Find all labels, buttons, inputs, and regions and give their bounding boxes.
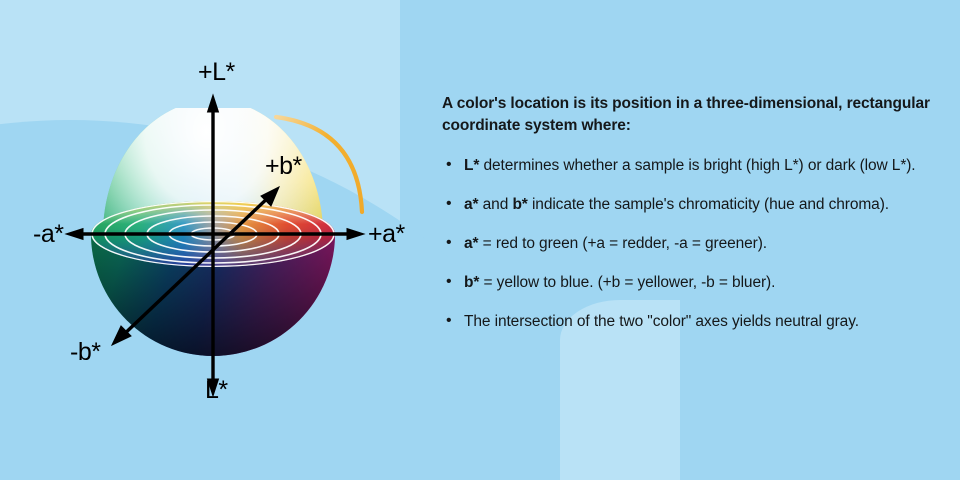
bullet-mid-text: and <box>478 196 512 213</box>
axis-label-a-positive: +a* <box>368 220 405 249</box>
bullet-lead-term: L* <box>464 157 479 174</box>
bullet-body-text: indicate the sample's chromaticity (hue … <box>528 196 889 213</box>
bullet-body-text: = yellow to blue. (+b = yellower, -b = b… <box>479 274 775 291</box>
illustration-root: +L* L* +a* -a* +b* -b* A color's locatio… <box>0 0 960 480</box>
bullet-lead-term: b* <box>464 274 479 291</box>
bullet-glyph: • <box>446 271 452 294</box>
bullet-body-text: The intersection of the two "color" axes… <box>464 313 859 330</box>
lab-color-solid-diagram: +L* L* +a* -a* +b* -b* <box>0 0 440 480</box>
bullet-body-text: determines whether a sample is bright (h… <box>479 157 915 174</box>
list-item: •L* determines whether a sample is brigh… <box>442 155 942 177</box>
a-axis-right-arrowhead <box>347 229 364 240</box>
bullet-lead-term-2: b* <box>512 196 527 213</box>
bullet-glyph: • <box>446 232 452 255</box>
list-item: •b* = yellow to blue. (+b = yellower, -b… <box>442 272 942 294</box>
axis-label-b-negative: -b* <box>70 338 100 367</box>
l-axis-up-arrowhead <box>208 95 219 112</box>
list-item: •The intersection of the two "color" axe… <box>442 311 942 333</box>
axis-label-l-positive: +L* <box>198 58 235 87</box>
explanation-panel: A color's location is its position in a … <box>442 93 942 333</box>
bullet-lead-term: a* <box>464 196 478 213</box>
list-item: •a* and b* indicate the sample's chromat… <box>442 194 942 216</box>
a-axis-left-arrowhead <box>66 229 83 240</box>
bullet-body-text: = red to green (+a = redder, -a = greene… <box>478 235 767 252</box>
axis-label-a-negative: -a* <box>33 220 63 249</box>
bullet-lead-term: a* <box>464 235 478 252</box>
bullet-glyph: • <box>446 310 452 333</box>
axis-label-b-positive: +b* <box>265 152 302 181</box>
axis-label-l-negative: L* <box>205 376 228 405</box>
bullet-glyph: • <box>446 193 452 216</box>
panel-bullet-list: •L* determines whether a sample is brigh… <box>442 155 942 333</box>
list-item: •a* = red to green (+a = redder, -a = gr… <box>442 233 942 255</box>
panel-intro-text: A color's location is its position in a … <box>442 93 942 137</box>
bullet-glyph: • <box>446 154 452 177</box>
